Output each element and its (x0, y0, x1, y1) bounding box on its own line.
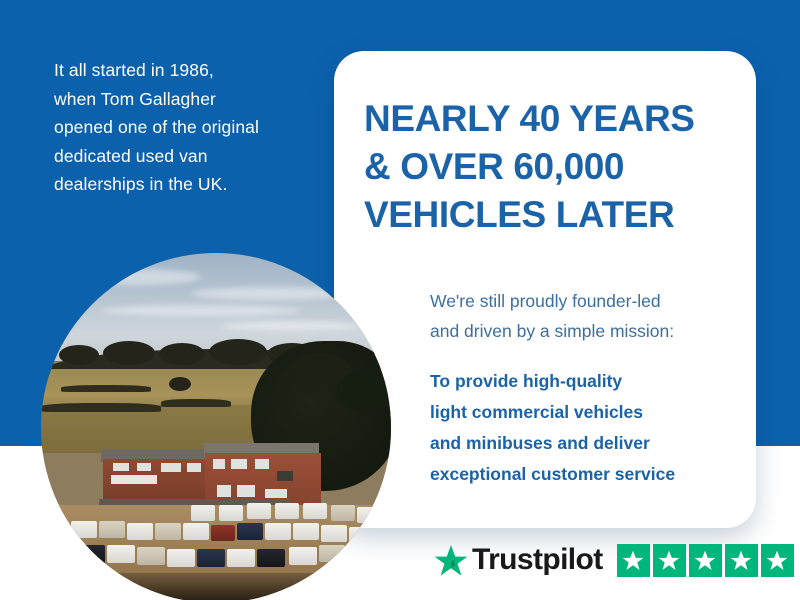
trustpilot-rating[interactable]: Trustpilot (434, 539, 794, 581)
photo-building-sign (111, 475, 157, 484)
photo-foreground-shadow (41, 573, 391, 600)
mission-statement: To provide high-quality light commercial… (430, 366, 742, 490)
promo-graphic: It all started in 1986, when Tom Gallagh… (0, 0, 800, 600)
trustpilot-logo: Trustpilot (434, 543, 603, 577)
star-filled (761, 544, 794, 577)
trustpilot-star-icon (434, 544, 468, 577)
headline: NEARLY 40 YEARS & OVER 60,000 VEHICLES L… (364, 95, 740, 239)
star-filled (617, 544, 650, 577)
trustpilot-wordmark: Trustpilot (472, 543, 603, 577)
star-filled (689, 544, 722, 577)
trustpilot-stars (617, 544, 794, 577)
star-filled (725, 544, 758, 577)
subcopy: We're still proudly founder-led and driv… (430, 286, 740, 346)
star-filled (653, 544, 686, 577)
intro-paragraph: It all started in 1986, when Tom Gallagh… (54, 56, 322, 199)
dealership-photo (41, 253, 391, 600)
